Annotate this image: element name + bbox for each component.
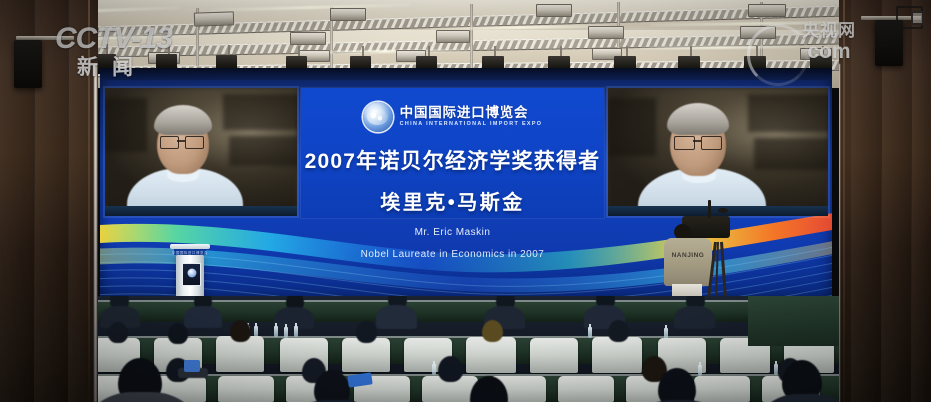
- stage-light: [330, 8, 366, 21]
- audience-chair: [218, 376, 274, 402]
- presentation-slide: 中国国际进口博览会 CHINA INTERNATIONAL IMPORT EXP…: [301, 88, 604, 218]
- hanging-speaker: [14, 40, 42, 88]
- stage-light: [290, 32, 326, 45]
- podium-band-text: 中国国际进口博览会: [172, 250, 208, 255]
- camera-operator: NANJING: [656, 218, 746, 300]
- audience-chair: [694, 376, 750, 402]
- slide-credential: Nobel Laureate in Economics in 2007: [301, 249, 604, 260]
- stage-light: [536, 4, 572, 17]
- stage-light: [748, 4, 786, 17]
- globe-emblem-icon: [363, 102, 393, 132]
- slide-speaker-name-cn: 埃里克•马斯金: [301, 186, 604, 215]
- remote-speaker-video-right: [608, 88, 828, 216]
- hall-wall-left: [0, 0, 98, 402]
- audience-chair: [342, 338, 390, 372]
- audience-chair: [558, 376, 614, 402]
- ciie-logo-en: CHINA INTERNATIONAL IMPORT EXPO: [400, 122, 543, 128]
- vest-text: NANJING: [664, 252, 712, 259]
- audience-chair: [592, 337, 642, 373]
- stage-light: [588, 26, 624, 39]
- stage-light: [194, 11, 234, 26]
- ciie-logo-cn: 中国国际进口博览会: [400, 106, 543, 120]
- screen-share-icon: [896, 6, 923, 29]
- stage-light: [436, 30, 470, 43]
- ciie-logo: 中国国际进口博览会 CHINA INTERNATIONAL IMPORT EXP…: [301, 102, 604, 132]
- main-led-screen: 中国国际进口博览会 CHINA INTERNATIONAL IMPORT EXP…: [100, 68, 832, 300]
- remote-speaker-video-left: [105, 88, 297, 216]
- audience-chair: [466, 337, 516, 373]
- attendee-phone: [184, 360, 200, 372]
- audience-area: [98, 296, 839, 402]
- audience-chair: [530, 338, 578, 373]
- slide-speaker-name-en: Mr. Eric Maskin: [301, 227, 604, 238]
- stage-light: [740, 26, 776, 39]
- broadcast-video-frame: 中国国际进口博览会 CHINA INTERNATIONAL IMPORT EXP…: [0, 0, 931, 402]
- podium-screen-logo: [187, 268, 196, 277]
- slide-title: 2007年诺贝尔经济学奖获得者: [301, 145, 604, 175]
- hall-wall-right: [839, 0, 931, 402]
- side-desk: [748, 296, 839, 346]
